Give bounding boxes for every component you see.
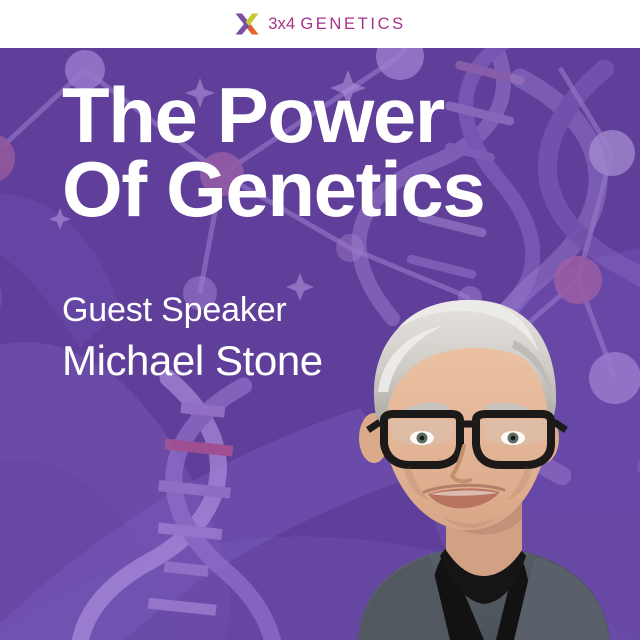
brand-header: 3x4GENETICS: [0, 0, 640, 48]
brand-wordmark: 3x4GENETICS: [268, 16, 406, 33]
avatar: [318, 288, 640, 640]
podcast-cover-poster: 3x4GENETICS: [0, 0, 640, 640]
brand-number: 3x4: [268, 15, 295, 33]
brand-word: GENETICS: [300, 15, 405, 33]
brand-logo: 3x4GENETICS: [234, 11, 406, 37]
x-mark-logo-icon: [234, 11, 260, 37]
